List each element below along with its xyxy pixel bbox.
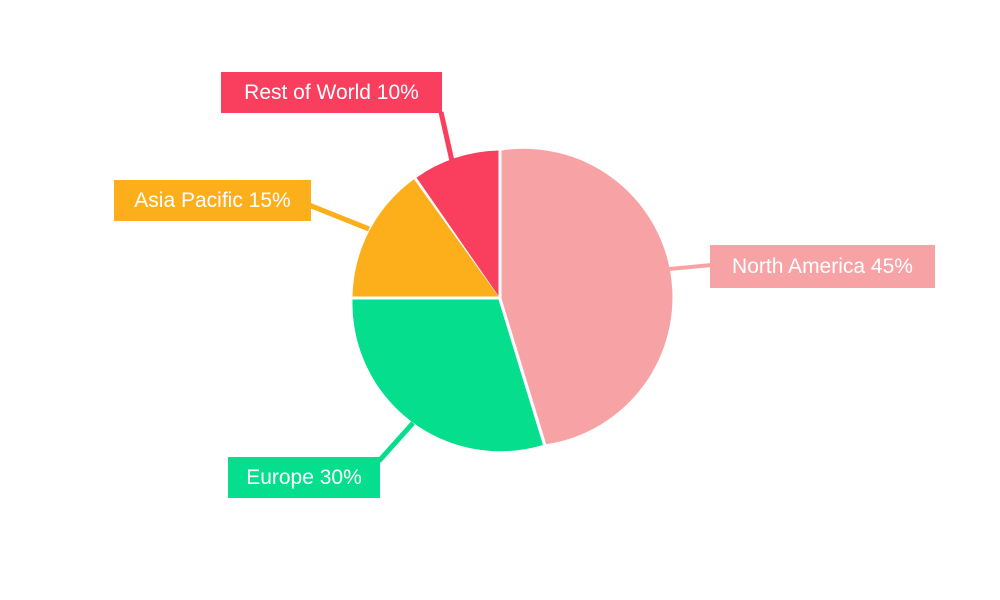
pie-label-asia-pacific[interactable]: Asia Pacific 15% <box>114 180 311 221</box>
pie-chart-canvas <box>0 0 1000 600</box>
leader-line-rest-of-world <box>441 112 452 161</box>
pie-label-north-america[interactable]: North America 45% <box>710 245 935 288</box>
pie-label-rest-of-world[interactable]: Rest of World 10% <box>221 72 442 113</box>
leader-line-asia-pacific <box>309 205 369 229</box>
pie-label-europe[interactable]: Europe 30% <box>228 457 380 498</box>
pie-chart: North America 45% Europe 30% Asia Pacifi… <box>0 0 1000 600</box>
leader-line-europe <box>379 423 413 461</box>
